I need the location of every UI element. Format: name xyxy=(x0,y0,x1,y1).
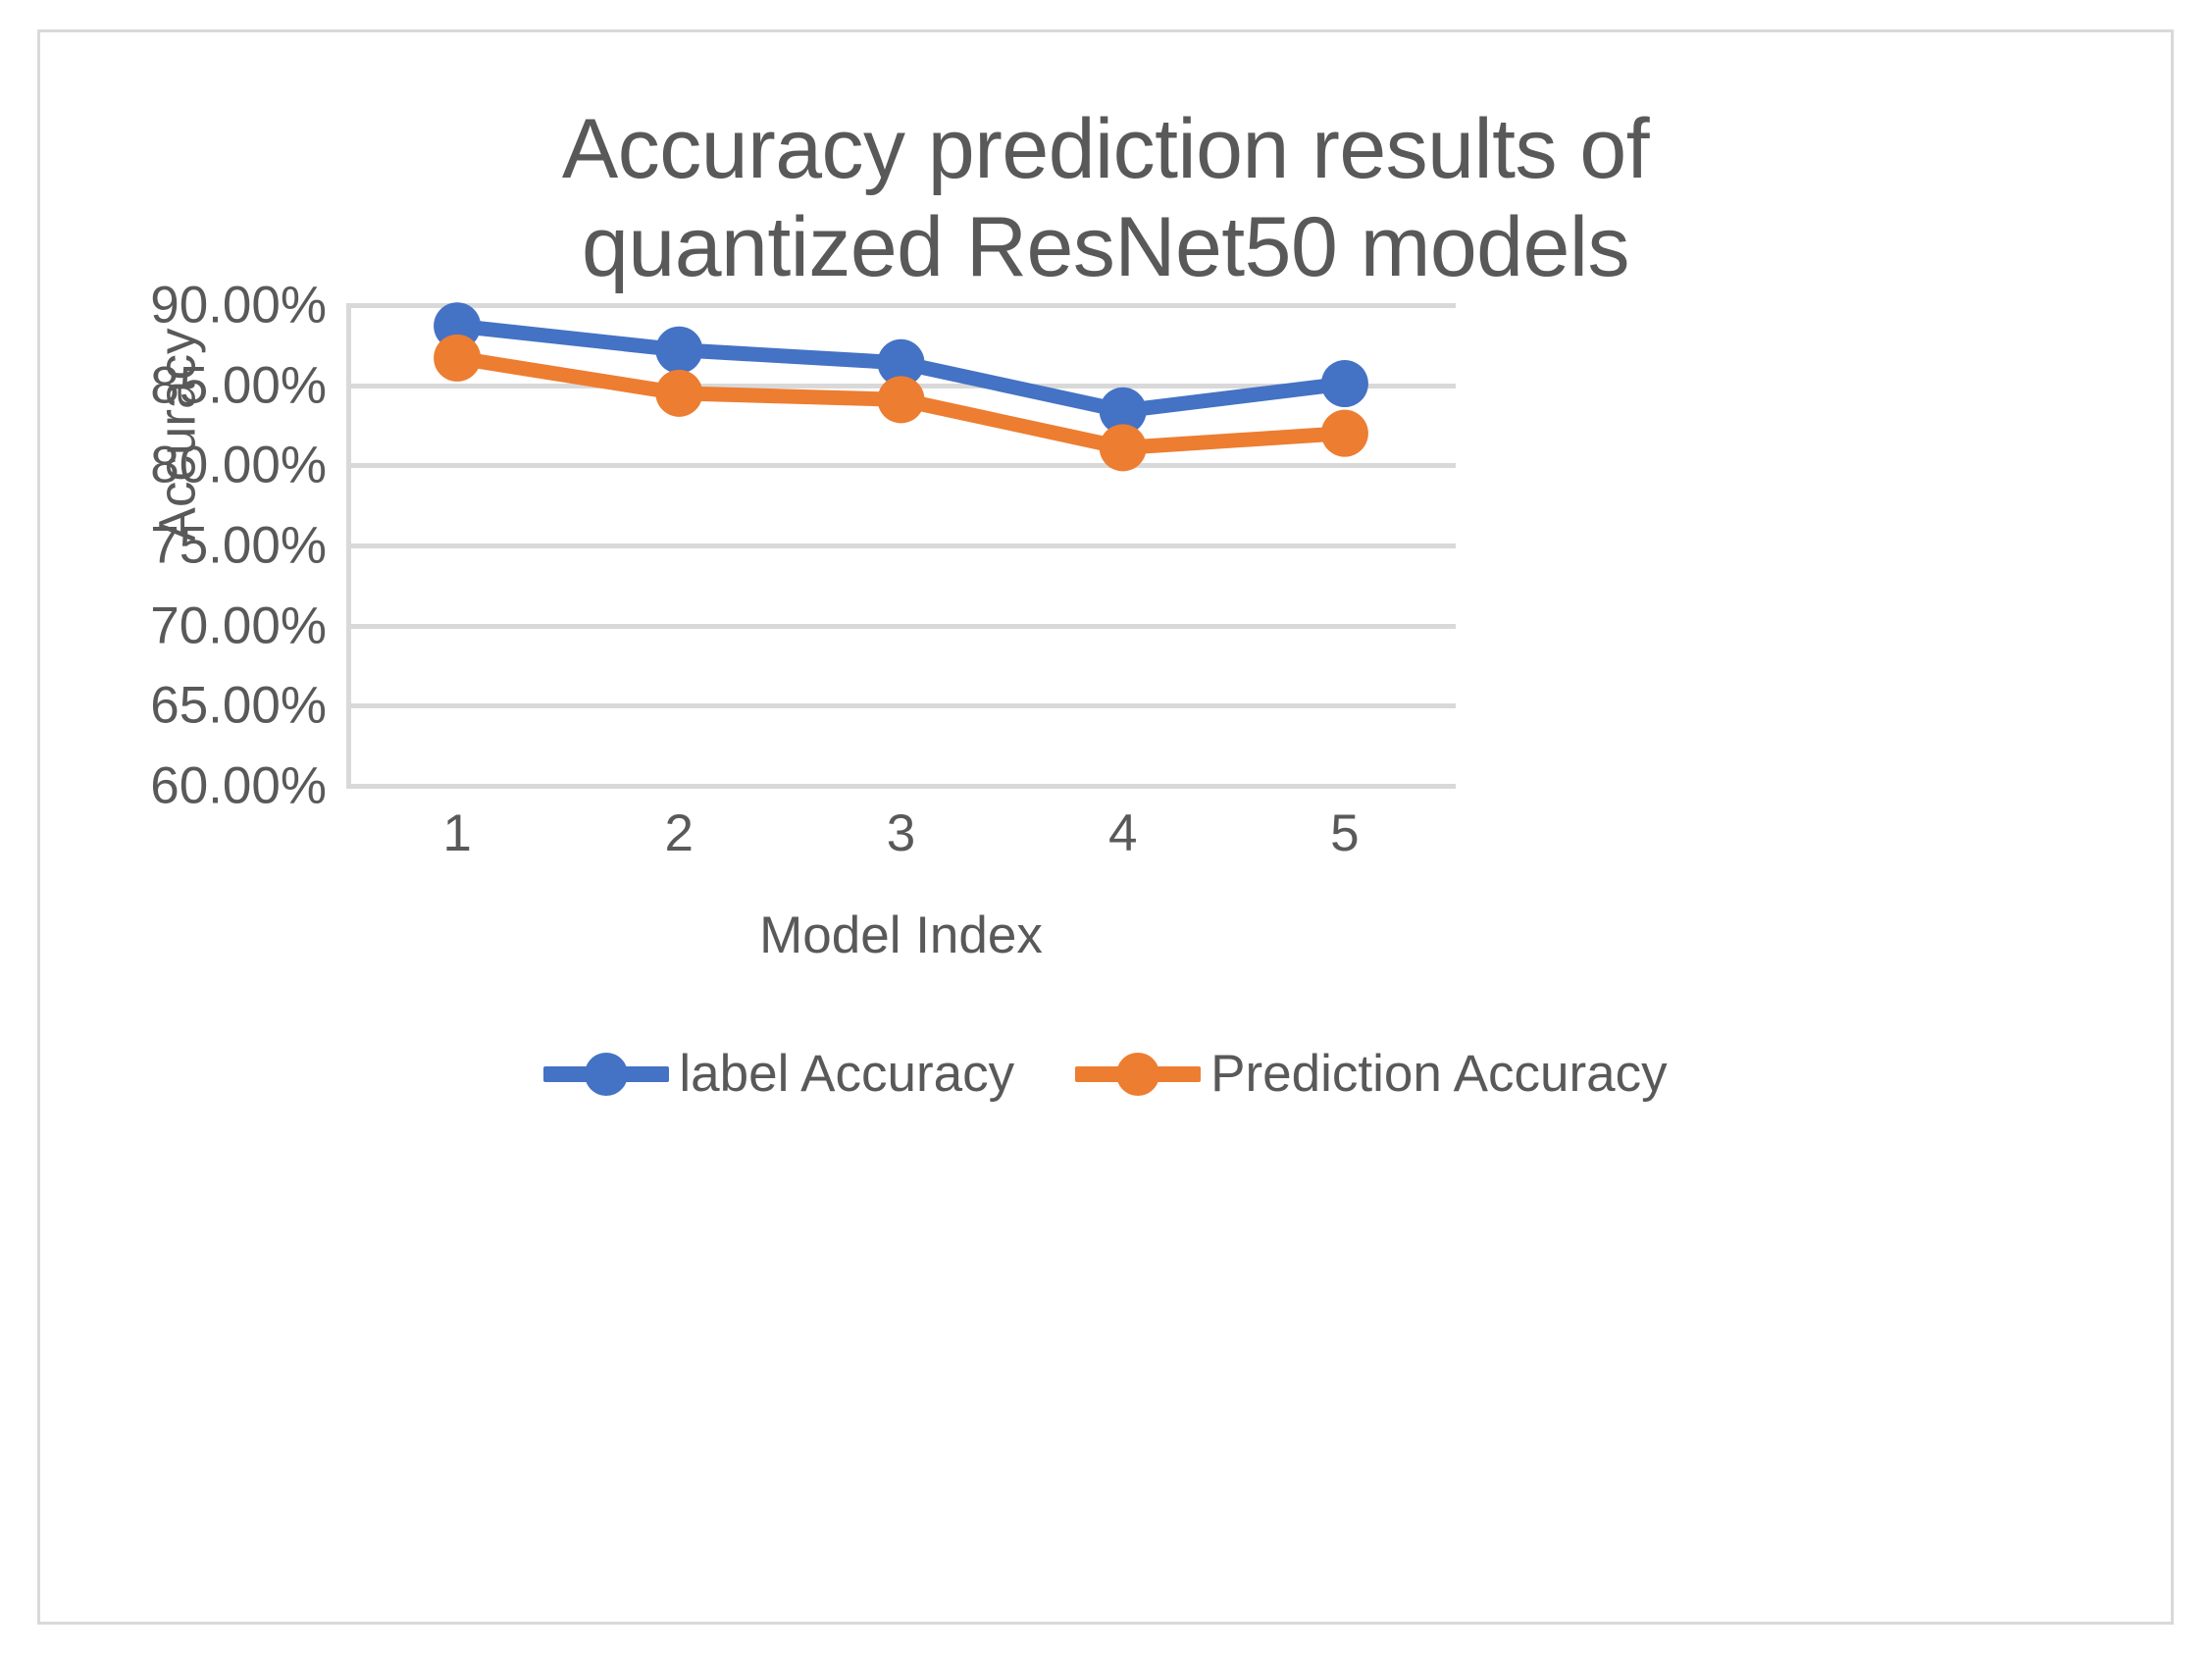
legend-label: label Accuracy xyxy=(679,1048,1014,1100)
legend-dot-icon xyxy=(585,1053,628,1096)
chart-legend: label AccuracyPrediction Accuracy xyxy=(40,1048,2171,1100)
data-point-marker xyxy=(1321,410,1368,457)
y-axis-tick-label: 70.00% xyxy=(72,599,327,651)
x-axis-title: Model Index xyxy=(346,906,1456,965)
x-axis-tick-label: 2 xyxy=(620,807,738,859)
y-axis-tick-label: 90.00% xyxy=(72,280,327,332)
y-axis-tick-label: 85.00% xyxy=(72,359,327,411)
chart-frame: Accuracy prediction results of quantized… xyxy=(37,29,2174,1625)
series-layer xyxy=(346,305,1456,786)
chart-title: Accuracy prediction results of quantized… xyxy=(40,101,2171,297)
x-axis-tick-labels: 12345 xyxy=(346,807,1456,876)
legend-item-label-accuracy[interactable]: label Accuracy xyxy=(543,1048,1014,1100)
data-point-marker xyxy=(1321,360,1368,407)
x-axis-tick-label: 5 xyxy=(1286,807,1404,859)
legend-label: Prediction Accuracy xyxy=(1210,1048,1667,1100)
y-axis-tick-label: 80.00% xyxy=(72,440,327,492)
y-axis-tick-label: 65.00% xyxy=(72,680,327,732)
data-point-marker xyxy=(878,376,925,423)
legend-item-prediction-accuracy[interactable]: Prediction Accuracy xyxy=(1075,1048,1667,1100)
legend-marker-icon xyxy=(1075,1066,1201,1082)
data-point-marker xyxy=(1100,424,1147,471)
legend-marker-icon xyxy=(543,1066,669,1082)
x-axis-tick-label: 1 xyxy=(398,807,516,859)
chart-title-line-1: Accuracy prediction results of xyxy=(40,101,2171,199)
y-axis-tick-label: 60.00% xyxy=(72,760,327,812)
x-axis-tick-label: 3 xyxy=(843,807,960,859)
data-point-marker xyxy=(434,335,481,382)
data-point-marker xyxy=(655,370,702,417)
plot-area xyxy=(346,305,1456,786)
y-axis-tick-labels: 90.00%85.00%80.00%75.00%70.00%65.00%60.0… xyxy=(50,305,327,786)
legend-dot-icon xyxy=(1116,1053,1159,1096)
x-axis-tick-label: 4 xyxy=(1064,807,1182,859)
chart-title-line-2: quantized ResNet50 models xyxy=(40,199,2171,297)
data-point-marker xyxy=(655,327,702,374)
y-axis-tick-label: 75.00% xyxy=(72,520,327,572)
